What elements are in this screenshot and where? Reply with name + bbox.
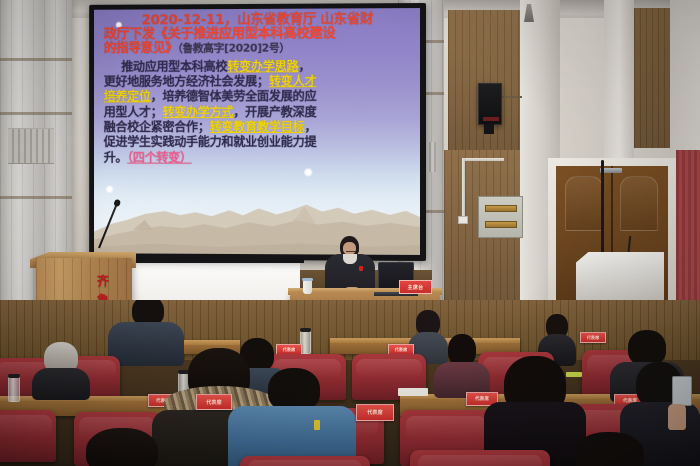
speaker-bracket [484, 124, 494, 134]
slide-title-line3: 的指导意见》 [104, 41, 178, 56]
name-placard-r1-c: 代表席 [580, 332, 606, 343]
speaker-lapel-badge [359, 266, 363, 271]
projection-screen-frame: 2020-12-11，山东省教育厅 山东省财 政厅下发《关于推进应用型本科高校建… [89, 3, 426, 261]
slide-mountain-graphic [94, 190, 420, 255]
person-body [32, 368, 90, 400]
smartphone[interactable] [672, 376, 692, 406]
slide-sun-mid [304, 168, 313, 177]
slide-body: 推动应用型本科高校转变办学思路， 更好地服务地方经济社会发展；转变人才 培养定位… [104, 58, 412, 166]
seat-r4-2 [410, 450, 550, 466]
door-panel-right [620, 176, 658, 231]
slide-text-block: 2020-12-11，山东省教育厅 山东省财 政厅下发《关于推进应用型本科高校建… [94, 8, 420, 165]
person-head [574, 432, 644, 466]
slide-doc-number: （鲁教高字[2020]2号） [177, 41, 289, 54]
thermos-lid [300, 328, 311, 332]
wall-wood-panel-right [634, 8, 672, 148]
column-band-1 [0, 58, 72, 61]
person-head [86, 428, 158, 466]
thermos-lid [8, 374, 20, 378]
conduit-horizontal [462, 158, 504, 161]
audience-person-front-left [46, 428, 196, 466]
person-head [628, 330, 666, 366]
audience-person-front-right [540, 432, 680, 466]
placard-text: 代表席 [206, 399, 222, 406]
column-relief-panel [8, 128, 54, 164]
placard-text: 代表席 [395, 347, 408, 353]
column-band-2 [0, 112, 72, 115]
speaker-mount-arm [502, 96, 522, 98]
conduit-vertical [462, 158, 465, 218]
light-switch-box[interactable] [458, 216, 468, 224]
zipper-pull [314, 420, 320, 430]
cup-lid [302, 278, 313, 281]
placard-text: 代表席 [367, 409, 383, 416]
door-panel-left [565, 176, 603, 231]
name-placard-r3-b: 代表席 [356, 404, 394, 421]
tea-cup [303, 280, 312, 294]
speaker-brand-label [483, 117, 499, 121]
paper-sheet [398, 388, 428, 396]
placard-text: 代表席 [587, 335, 600, 341]
seat-r4-1 [240, 456, 370, 466]
breaker-row-bottom [485, 221, 517, 228]
electrical-distribution-panel[interactable] [478, 196, 523, 238]
conference-room-photo: 2020-12-11，山东省教育厅 山东省财 政厅下发《关于推进应用型本科高校建… [0, 0, 700, 466]
name-placard-r3-a: 代表席 [196, 394, 232, 410]
wall-loudspeaker [478, 83, 502, 125]
white-lectern [576, 252, 664, 300]
column-band-3 [0, 196, 72, 199]
head-table-placard: 主席台 [399, 280, 432, 294]
window-curtain [676, 150, 700, 320]
audience-person-grey-hair [30, 342, 92, 394]
speaker-collar [343, 254, 357, 264]
thermos-bottle-r2b [8, 376, 20, 402]
slide-closing-phrase: （四个转变） [127, 150, 192, 165]
breaker-row-top [485, 205, 517, 212]
audience-person-blue-hoodie [228, 368, 356, 466]
raised-hand [668, 404, 686, 430]
projected-slide: 2020-12-11，山东省教育厅 山东省财 政厅下发《关于推进应用型本科高校建… [94, 8, 420, 255]
audience-area: 代表席 代表席 代表席 [0, 300, 700, 466]
head-placard-text: 主席台 [408, 284, 424, 291]
